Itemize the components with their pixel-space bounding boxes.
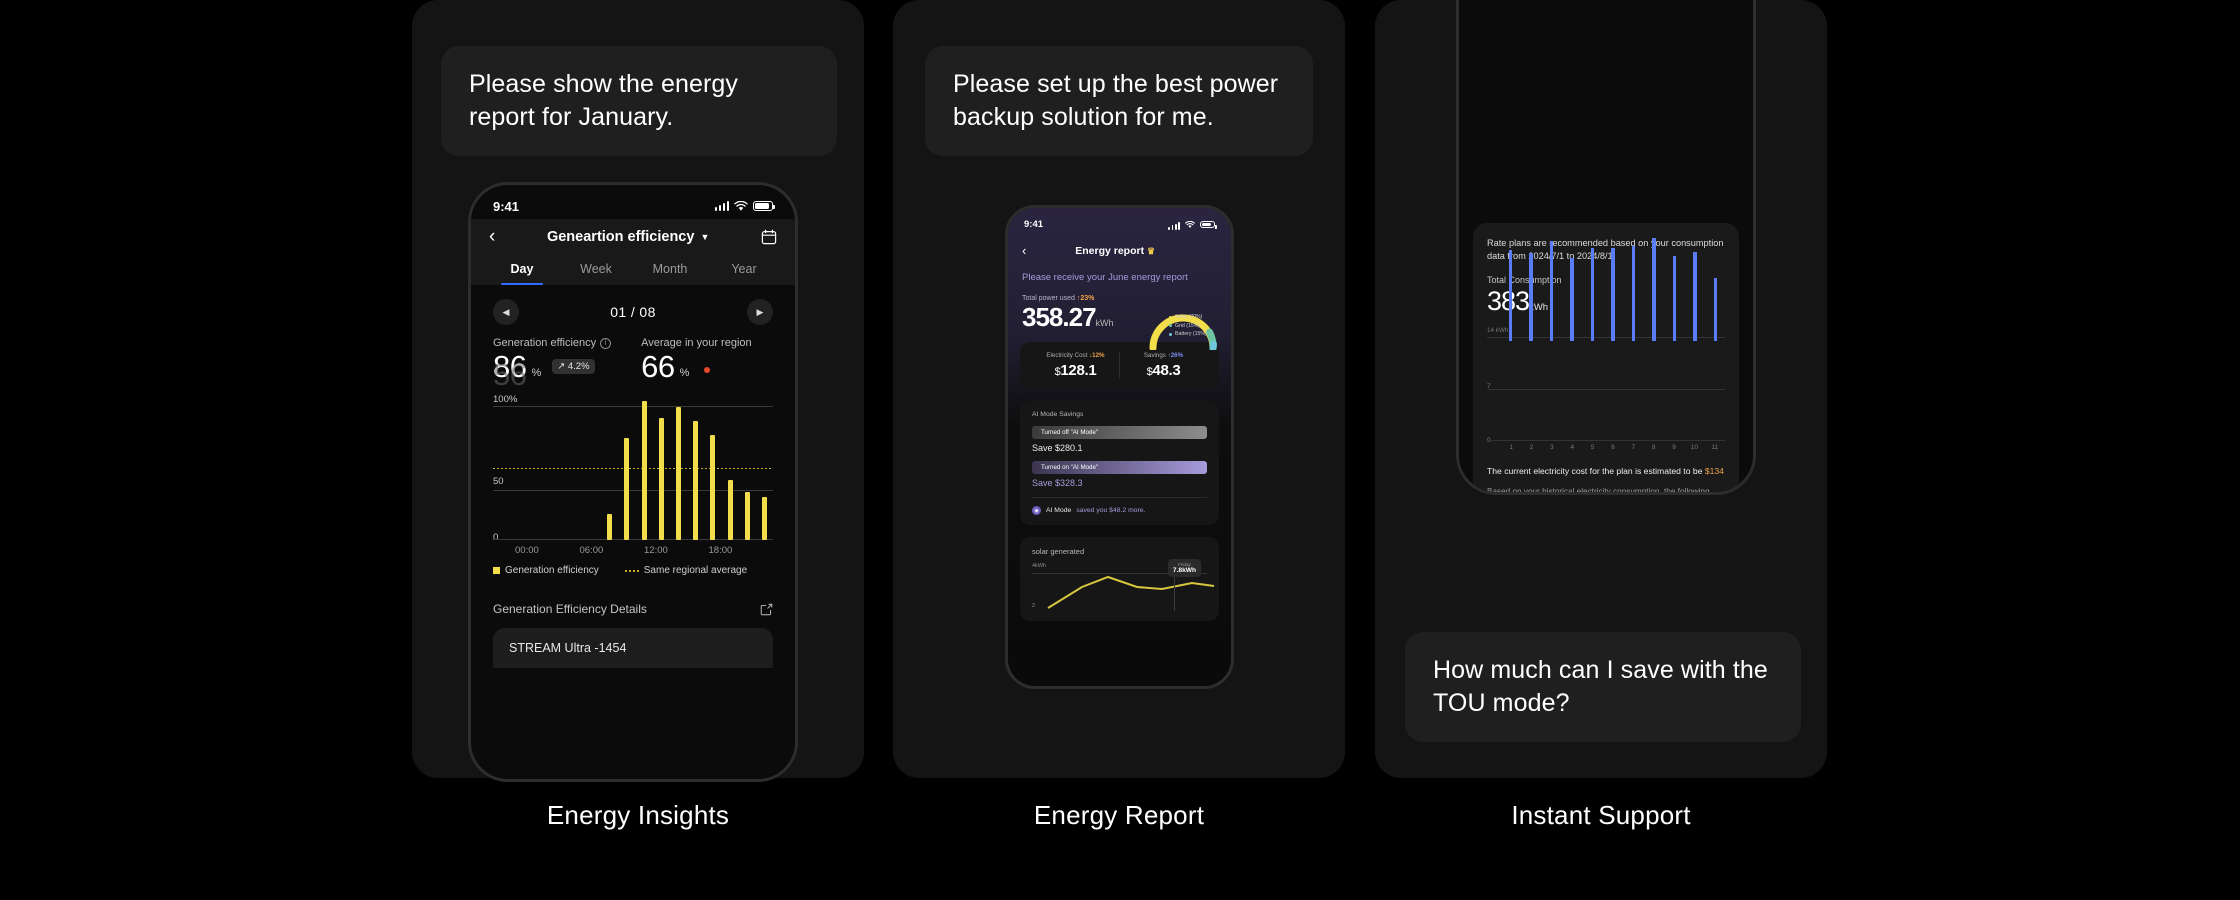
xtick: 18:00 [709, 545, 774, 556]
chart-bar [756, 497, 773, 540]
chart3-bar [1563, 258, 1582, 341]
stat-label-text: Generation efficiency [493, 337, 596, 349]
xtick: 00:00 [515, 545, 580, 556]
stat-label: Average in your region [641, 337, 751, 349]
generation-efficiency-chart: 100% 50 0 [493, 398, 773, 540]
chart-bar [670, 407, 687, 540]
chart3-bar-fill [1693, 252, 1696, 342]
phone1-screen: 9:41 ‹ Geneartion efficiency ▼ [471, 185, 795, 779]
chart-bar [601, 514, 618, 540]
phone2-nav-bar: ‹ Energy report ♛ [1008, 234, 1231, 258]
stat-value-row: 66 % [641, 351, 751, 382]
phone1-tab-bar: Day Week Month Year [471, 256, 795, 285]
chart3-xtick: 11 [1705, 444, 1725, 451]
tab-month[interactable]: Month [633, 256, 707, 285]
chart3-bars [1501, 331, 1725, 341]
total-power-label-text: Total power used [1022, 295, 1075, 302]
chart3-gridline-mid [1487, 389, 1725, 390]
chart-bar [653, 418, 670, 540]
ai-mode-on-bar: Turned on "AI Mode" [1032, 461, 1207, 474]
wifi-icon [734, 201, 748, 212]
stat-value: 56 86 [493, 351, 526, 382]
stat-value-ghost: 56 [493, 359, 526, 390]
kpi-label-text: Savings [1144, 352, 1166, 359]
device-list-item[interactable]: STREAM Ultra -1454 [493, 628, 773, 668]
phone3-content: Rate plans are recommended based on your… [1459, 0, 1753, 492]
kpi-label: Electricity Cost ↓12% [1032, 352, 1119, 359]
chart3-bar [1542, 241, 1561, 341]
caption-energy-insights: Energy Insights [412, 800, 864, 831]
total-power-unit: kWh [1096, 318, 1114, 330]
chart3-xtick: 3 [1542, 444, 1562, 451]
chart3-bar [1624, 246, 1643, 341]
page-title-text: Energy report [1075, 245, 1144, 257]
legend-item-generation: Generation efficiency [493, 565, 599, 576]
solar-ytick-bottom: 2 [1032, 603, 1035, 609]
chart3-bar [1604, 248, 1623, 341]
chart-bar [618, 438, 635, 540]
chart-bar [739, 492, 756, 540]
chart3-bar [1686, 252, 1705, 342]
chart3-xtick: 5 [1582, 444, 1602, 451]
date-navigator: ◀ 01 / 08 ▶ [471, 285, 795, 337]
chart-ytick-bottom: 0 [493, 532, 498, 543]
chart-legend: Generation efficiency Same regional aver… [493, 565, 773, 576]
status-icons [715, 201, 774, 212]
phone2-status-bar: 9:41 [1008, 208, 1231, 234]
ai-mode-off-bar: Turned off "AI Mode" [1032, 426, 1207, 439]
chart-bar-fill [676, 407, 681, 540]
phone1-status-bar: 9:41 [471, 185, 795, 219]
solar-marker-line [1174, 571, 1175, 611]
chart-bar [721, 480, 738, 540]
info-icon[interactable]: i [600, 338, 611, 349]
legend-label: Grid (15%) [1175, 323, 1200, 329]
chart-bar-fill [659, 418, 664, 540]
chart3-bar-fill [1570, 258, 1573, 341]
chart3-xtick: 8 [1644, 444, 1664, 451]
chart-bar-fill [624, 438, 629, 540]
tab-week[interactable]: Week [559, 256, 633, 285]
edit-square-icon[interactable] [760, 603, 773, 616]
chart-bar [635, 401, 652, 540]
total-power-delta: ↑23% [1077, 295, 1095, 302]
chart3-xtick: 7 [1623, 444, 1643, 451]
stat-value-text: 66 [641, 351, 674, 382]
page-title-text: Geneartion efficiency [547, 229, 694, 245]
report-lead-text: Please receive your June energy report [1008, 258, 1231, 283]
chart3-bar-fill [1632, 246, 1635, 341]
caret-down-icon: ▼ [700, 232, 709, 242]
caption-instant-support: Instant Support [1375, 800, 1827, 831]
chart3-xtick: 4 [1562, 444, 1582, 451]
chart-ytick-top: 100% [493, 394, 517, 405]
xtick: 12:00 [644, 545, 709, 556]
wifi-icon [1185, 221, 1195, 229]
kpi-row: Electricity Cost ↓12% $128.1 Savings ↑26… [1032, 352, 1207, 379]
page-title: Energy report ♛ [1013, 245, 1217, 257]
ai-footer-prefix: AI Mode [1046, 507, 1071, 514]
stat-regional-average: Average in your region 66 % [641, 337, 751, 382]
consumption-chart: 14 kWh 7 0 [1487, 331, 1725, 441]
chart3-xtick: 1 [1501, 444, 1521, 451]
solar-tooltip: Friday 7.8kWh [1168, 559, 1201, 577]
battery-icon [753, 201, 773, 211]
chart3-bar-fill [1652, 238, 1655, 341]
chart-xaxis: 00:00 06:00 12:00 18:00 [515, 545, 773, 556]
gauge-legend-item-grid: Grid (15%) [1169, 323, 1207, 329]
chart3-bar-fill [1673, 256, 1676, 341]
ai-mode-title: AI Mode Savings [1032, 411, 1207, 418]
kpi-label: Savings ↑26% [1120, 352, 1207, 359]
phone-mockup-energy-report: 9:41 ‹ Energy report ♛ Please receive yo… [1005, 205, 1234, 689]
legend-swatch-icon [493, 567, 500, 574]
calendar-icon[interactable] [761, 229, 777, 245]
chart-bar-fill [745, 492, 750, 540]
phone2-screen: 9:41 ‹ Energy report ♛ Please receive yo… [1008, 208, 1231, 686]
stat-value-row: 56 86 % ↗ 4.2% [493, 351, 611, 382]
chat-bubble-energy-insights: Please show the energy report for Januar… [441, 46, 837, 156]
chart3-bar [1706, 278, 1725, 341]
tooltip-value: 7.8kWh [1173, 567, 1196, 574]
ai-mode-off-save: Save $280.1 [1032, 443, 1207, 453]
legend-label: Solar (70%) [1175, 314, 1202, 320]
tab-year[interactable]: Year [707, 256, 781, 285]
phone3-screen: Rate plans are recommended based on your… [1459, 0, 1753, 492]
page-title[interactable]: Geneartion efficiency ▼ [547, 229, 709, 245]
legend-label: Same regional average [644, 565, 747, 576]
solar-title: solar generated [1032, 547, 1207, 556]
battery-icon [1200, 221, 1215, 229]
stat-delta-badge: ↗ 4.2% [552, 359, 594, 374]
chart-ytick-mid: 50 [493, 476, 504, 487]
ai-mode-on-label: Turned on "AI Mode" [1041, 464, 1098, 471]
details-header: Generation Efficiency Details [493, 602, 773, 616]
stat-label-text: Average in your region [641, 337, 751, 349]
divider [1032, 497, 1207, 498]
kpi-value-text: 48.3 [1152, 362, 1180, 379]
chart-bar-fill [762, 497, 767, 540]
gauge-legend: Solar (70%) Grid (15%) Battery (15%) [1169, 314, 1207, 340]
ai-mode-off-label: Turned off "AI Mode" [1041, 429, 1098, 436]
xtick: 06:00 [580, 545, 645, 556]
screenshot-stage: Please show the energy report for Januar… [0, 0, 2240, 900]
stat-unit: % [680, 367, 690, 382]
rate-plan-card: Rate plans are recommended based on your… [1473, 223, 1739, 492]
kpi-electricity-cost: Electricity Cost ↓12% $128.1 [1032, 352, 1120, 379]
recommendation-text: Based on your historical electricity con… [1487, 486, 1725, 492]
kpi-value: $48.3 [1120, 362, 1207, 379]
chart3-bar [1501, 250, 1520, 341]
kpi-savings: Savings ↑26% $48.3 [1120, 352, 1207, 379]
legend-label: Generation efficiency [505, 565, 599, 576]
phone-mockup-instant-support: Rate plans are recommended based on your… [1456, 0, 1756, 495]
total-power-label: Total power used ↑23% [1008, 283, 1231, 302]
gauge-legend-item-solar: Solar (70%) [1169, 314, 1207, 320]
chart-bar-fill [710, 435, 715, 540]
legend-item-regional: Same regional average [625, 565, 747, 576]
cellular-signal-icon [715, 201, 730, 211]
chart-bar-fill [642, 401, 647, 540]
gauge-legend-item-battery: Battery (15%) [1169, 331, 1207, 337]
chart3-bar-fill [1529, 253, 1532, 341]
phone1-stats: Generation efficiency i 56 86 % ↗ 4.2% [471, 337, 795, 382]
stat-generation-efficiency: Generation efficiency i 56 86 % ↗ 4.2% [493, 337, 611, 382]
cost-message-prefix: The current electricity cost for the pla… [1487, 466, 1705, 476]
chart-bars [515, 398, 773, 540]
current-date: 01 / 08 [610, 304, 656, 320]
ai-mode-footer: ◉ AI Mode saved you $48.2 more. [1032, 506, 1207, 515]
chart3-bar [1645, 238, 1664, 341]
ai-mode-savings-card: AI Mode Savings Turned off "AI Mode" Sav… [1020, 401, 1219, 525]
ai-footer-highlight: saved you $48.2 more. [1076, 507, 1145, 514]
legend-dot-icon [1169, 333, 1172, 336]
back-button[interactable]: ‹ [489, 227, 495, 246]
chart3-bar [1522, 253, 1541, 341]
phone2-content: 9:41 ‹ Energy report ♛ Please receive yo… [1008, 208, 1231, 686]
stat-label: Generation efficiency i [493, 337, 611, 349]
crown-icon: ♛ [1147, 246, 1155, 256]
energy-source-gauge: Solar (70%) Grid (15%) Battery (15%) [1147, 304, 1219, 350]
legend-label: Battery (15%) [1175, 331, 1207, 337]
ai-mode-on-save: Save $328.3 [1032, 478, 1207, 488]
cost-message-amount: $134 [1705, 466, 1724, 476]
chart3-bar-fill [1714, 278, 1717, 341]
chat-bubble-energy-report: Please set up the best power backup solu… [925, 46, 1313, 156]
chart-bar-fill [728, 480, 733, 540]
chart3-xaxis: 1234567891011 [1501, 444, 1725, 451]
chart3-bar-fill [1550, 241, 1553, 341]
chart-bar [687, 421, 704, 540]
kpi-delta: ↑26% [1168, 352, 1183, 359]
legend-dashed-icon [625, 570, 639, 572]
chart-bar-fill [693, 421, 698, 540]
phone1-nav-bar: ‹ Geneartion efficiency ▼ [471, 219, 795, 256]
stat-unit: % [531, 367, 541, 382]
ai-bot-icon: ◉ [1032, 506, 1041, 515]
next-date-button[interactable]: ▶ [747, 299, 773, 325]
chart-bar [704, 435, 721, 540]
caption-energy-report: Energy Report [893, 800, 1345, 831]
chart3-xtick: 6 [1603, 444, 1623, 451]
kpi-label-text: Electricity Cost [1046, 352, 1087, 359]
chart3-xtick: 2 [1521, 444, 1541, 451]
status-icons [1168, 220, 1215, 230]
chart3-bar [1583, 248, 1602, 341]
chart3-bar-fill [1591, 248, 1594, 341]
legend-dot-icon [1169, 324, 1172, 327]
kpi-delta: ↓12% [1089, 352, 1104, 359]
chart3-xtick: 9 [1664, 444, 1684, 451]
cost-message: The current electricity cost for the pla… [1487, 465, 1725, 477]
total-power-value: 358.27 [1022, 304, 1096, 330]
status-time: 9:41 [493, 199, 519, 214]
legend-dot-icon [1169, 316, 1172, 319]
chart3-axis-line [1487, 440, 1725, 441]
status-dot-icon [704, 367, 710, 373]
tab-day[interactable]: Day [485, 256, 559, 285]
chart3-bar-fill [1611, 248, 1614, 341]
kpi-value: $128.1 [1032, 362, 1119, 379]
status-time: 9:41 [1024, 219, 1043, 230]
prev-date-button[interactable]: ◀ [493, 299, 519, 325]
phone-mockup-energy-insights: 9:41 ‹ Geneartion efficiency ▼ [468, 182, 798, 782]
solar-generated-card: solar generated 4kWh 2 Friday 7.8kWh [1020, 537, 1219, 621]
chart3-xtick: 10 [1684, 444, 1704, 451]
cellular-signal-icon [1168, 220, 1180, 230]
kpi-value-text: 128.1 [1060, 362, 1096, 379]
chart3-bar-fill [1509, 250, 1512, 341]
chat-bubble-instant-support: How much can I save with the TOU mode? [1405, 632, 1801, 742]
chart3-bar [1665, 256, 1684, 341]
solar-line-chart: 4kWh 2 Friday 7.8kWh [1032, 563, 1207, 611]
chart-bar-fill [607, 514, 612, 540]
details-title: Generation Efficiency Details [493, 602, 647, 616]
